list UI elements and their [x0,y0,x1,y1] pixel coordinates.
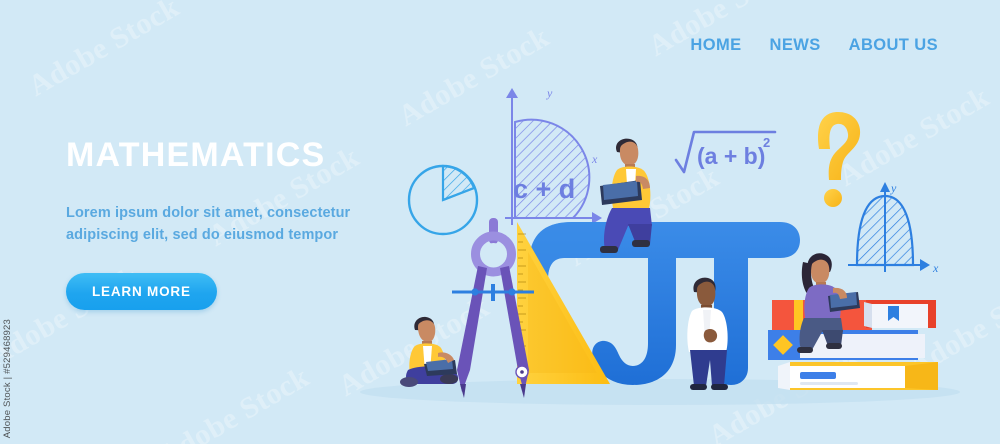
person-shoe [797,347,813,353]
equation-sum: c + d [513,174,575,204]
person-hand [704,329,717,342]
graph-x-axis-label: x [591,152,598,166]
sqrt-radicand: (a + b) [697,143,765,169]
hero-banner: Adobe Stock Adobe Stock Adobe Stock Adob… [0,0,1000,444]
person-shoe [826,343,842,349]
book-yellow [778,362,938,390]
sqrt-exponent: 2 [763,135,770,150]
graph-x-axis-label: x [932,261,939,275]
person-face [418,320,435,342]
person-face [811,260,829,284]
question-mark-icon [818,112,860,207]
graph-y-axis-label: y [890,181,897,195]
mathematics-illustration: y x c + d (a + b) 2 y [0,0,1000,444]
book-stack [768,300,938,390]
person-shoe [711,384,728,390]
person-face [620,142,638,166]
person-shoe [600,246,618,253]
parabola-area-graph: y x [848,181,939,275]
compass-left-leg [457,266,487,392]
equation-square-root: (a + b) 2 [676,132,775,172]
graph-y-axis-label: y [546,86,553,100]
person-shoe [690,384,707,390]
person-shoe [632,240,650,247]
person-man-sitting-crosslegged [400,317,458,387]
pie-chart [409,166,477,234]
person-face [697,282,715,307]
quarter-circle-area-graph: y x [505,86,602,225]
book-blue [768,330,925,360]
